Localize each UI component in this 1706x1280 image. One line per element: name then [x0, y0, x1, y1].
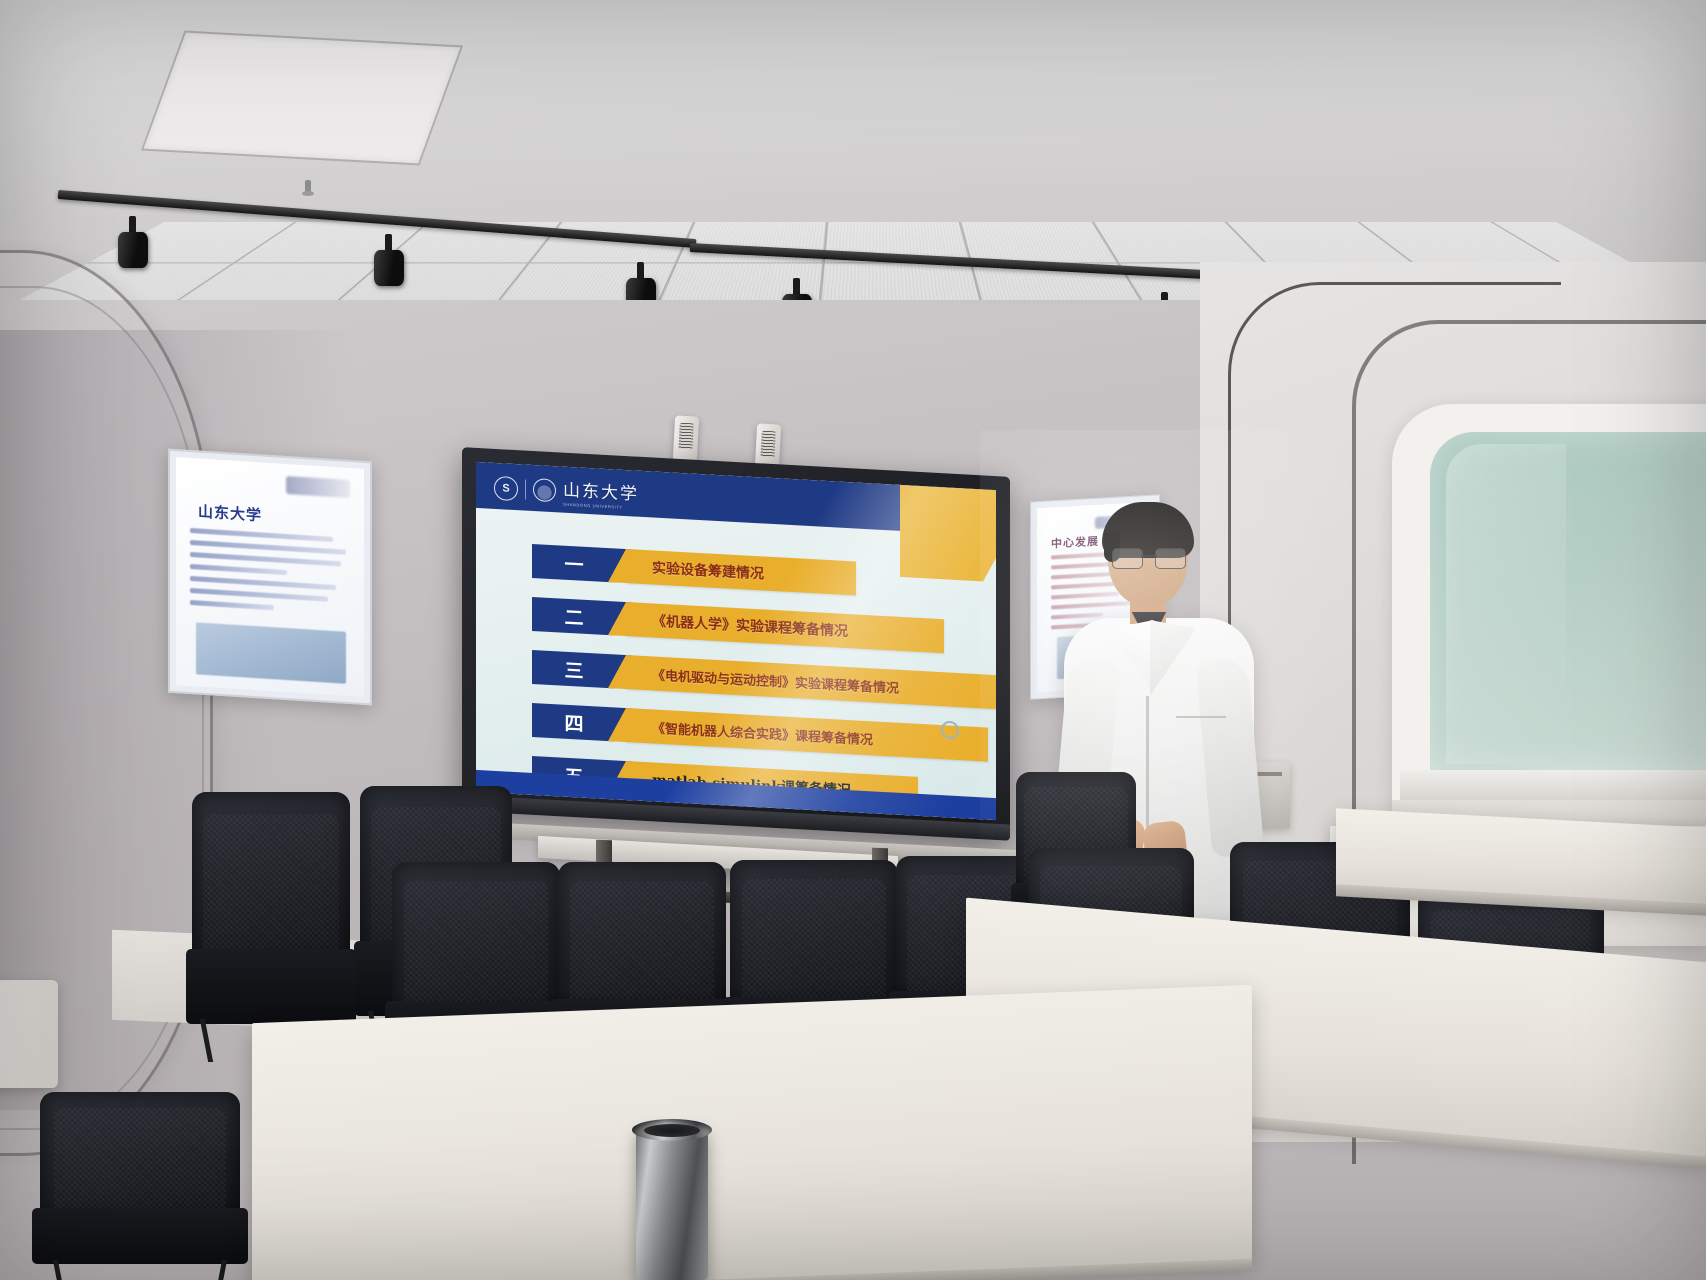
classroom-photo-scene: 山东大学 中心发展 — [0, 0, 1706, 1280]
thermos-opening — [644, 1124, 700, 1137]
agenda-bar: 《机器人学》实验课程筹备情况 — [626, 602, 944, 653]
glasses-bridge — [1141, 555, 1157, 557]
sdu-watermark-icon — [286, 476, 350, 498]
ceiling-access-panel — [141, 31, 463, 166]
sdu-name-cn: 山东大学 — [563, 476, 639, 505]
waste-bin — [0, 980, 58, 1088]
glasses-icon — [1112, 548, 1186, 567]
chair[interactable] — [40, 1092, 240, 1280]
agenda-bar: 实验设备筹建情况 — [626, 549, 856, 595]
agenda-number: 三 — [564, 655, 583, 683]
logo-divider — [525, 479, 526, 499]
sprinkler-head-icon — [302, 180, 314, 200]
wall-display-left-title: 山东大学 — [198, 500, 262, 525]
sdu-logo: S 山东大学 SHANDONG UNIVERSITY — [494, 472, 639, 511]
track-spotlight — [374, 234, 404, 286]
window-sill — [1400, 770, 1706, 800]
agenda-number-badge: 三 — [532, 650, 616, 689]
thermos-cup[interactable] — [636, 1128, 708, 1280]
front-conference-table — [252, 985, 1252, 1280]
agenda-text: 《机器人学》实验课程筹备情况 — [652, 610, 848, 641]
wall-speaker — [673, 415, 699, 462]
agenda-number-badge: 二 — [532, 597, 616, 636]
sdu-seal-icon: S — [494, 475, 518, 500]
agenda-number-badge: 四 — [532, 703, 616, 742]
display-screen[interactable]: S 山东大学 SHANDONG UNIVERSITY 一 — [476, 462, 996, 820]
main-display[interactable]: S 山东大学 SHANDONG UNIVERSITY 一 — [462, 462, 1024, 842]
agenda-number: 一 — [564, 549, 583, 577]
sdu-mountain-seal-icon — [533, 478, 556, 502]
agenda-bar: 《智能机器人综合实践》课程筹备情况 — [626, 708, 988, 762]
agenda-bar: 《电机驱动与运动控制》实验课程筹备情况 — [626, 655, 996, 709]
wall-display-left-body — [190, 528, 352, 622]
agenda-number: 四 — [564, 708, 583, 736]
presentation-slide: S 山东大学 SHANDONG UNIVERSITY 一 — [476, 462, 996, 820]
coat-pocket — [1176, 716, 1226, 718]
agenda-number-badge: 一 — [532, 544, 616, 583]
wall-display-left-content: 山东大学 — [176, 457, 364, 697]
glass-reflection — [1446, 444, 1566, 764]
track-spotlight — [118, 216, 148, 268]
agenda-text: 《电机驱动与运动控制》实验课程筹备情况 — [652, 664, 899, 696]
agenda-text: 实验设备筹建情况 — [652, 557, 764, 583]
agenda-number: 二 — [564, 602, 583, 630]
agenda-text: 《智能机器人综合实践》课程筹备情况 — [652, 717, 873, 748]
wall-display-left-photo — [196, 622, 346, 683]
power-indicator-icon[interactable] — [941, 721, 959, 740]
slide-agenda-list: 一 实验设备筹建情况 二 《机器人学》实验课程筹备情况 — [476, 514, 996, 794]
wall-display-left[interactable]: 山东大学 — [168, 449, 372, 706]
